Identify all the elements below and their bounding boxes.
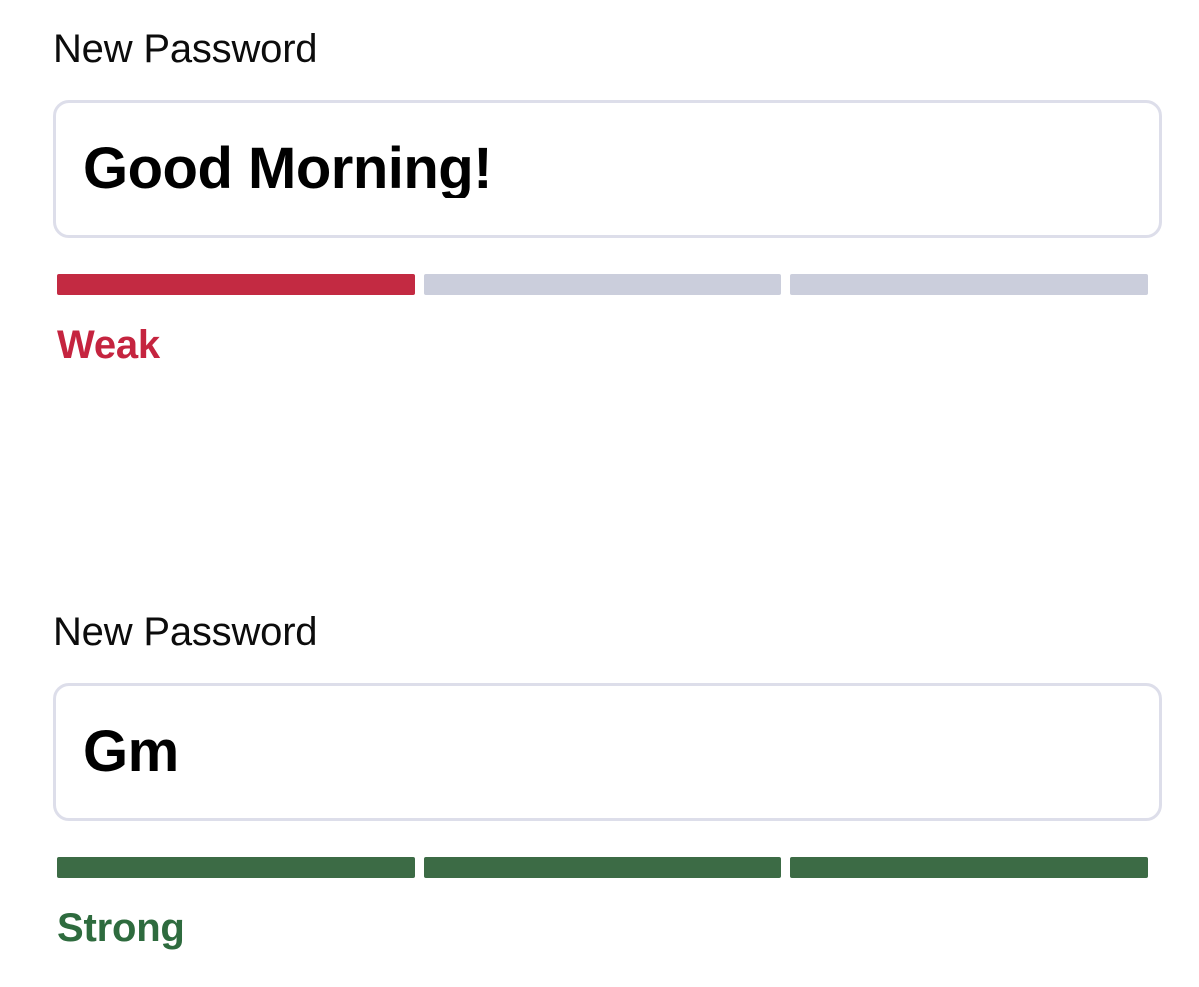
password-strength-label: Weak (57, 320, 160, 370)
password-strength-label: Strong (57, 903, 185, 953)
password-strength-meter (57, 857, 1148, 878)
new-password-input[interactable]: Gm (53, 683, 1162, 821)
new-password-input-value: Good Morning! (83, 140, 492, 198)
password-strength-meter (57, 274, 1148, 295)
new-password-label: New Password (53, 609, 317, 655)
strength-segment-1 (57, 274, 415, 295)
strength-segment-3 (790, 857, 1148, 878)
new-password-label: New Password (53, 26, 317, 72)
new-password-input-value: Gm (83, 723, 179, 781)
strength-segment-3 (790, 274, 1148, 295)
new-password-input[interactable]: Good Morning! (53, 100, 1162, 238)
strength-segment-2 (424, 857, 782, 878)
strength-segment-1 (57, 857, 415, 878)
strength-segment-2 (424, 274, 782, 295)
